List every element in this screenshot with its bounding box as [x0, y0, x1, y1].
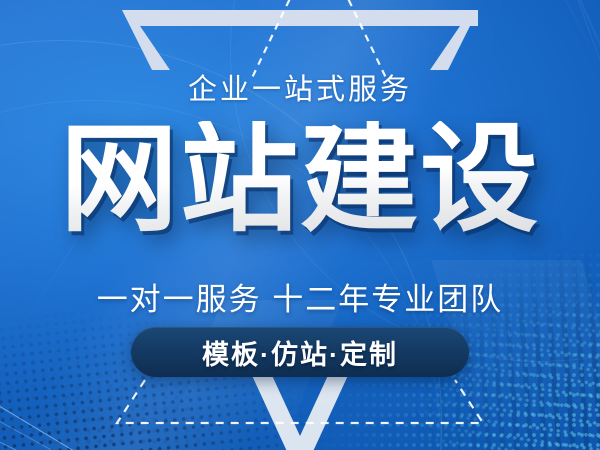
v-mark-icon [244, 370, 356, 450]
subtitle-text: 一对一服务 十二年专业团队 [0, 274, 600, 319]
service-badge-label: 模板·仿站·定制 [202, 333, 398, 372]
bottom-trapezoid-dashed-icon [117, 380, 483, 423]
page-title: 网站建设 [0, 121, 600, 239]
bottom-frame-decoration [0, 370, 600, 450]
promo-banner: 企业一站式服务 网站建设 一对一服务 十二年专业团队 模板·仿站·定制 [0, 0, 600, 450]
top-trapezoid-icon [122, 10, 478, 70]
kicker-text: 企业一站式服务 [0, 66, 600, 108]
service-badge[interactable]: 模板·仿站·定制 [131, 327, 469, 377]
